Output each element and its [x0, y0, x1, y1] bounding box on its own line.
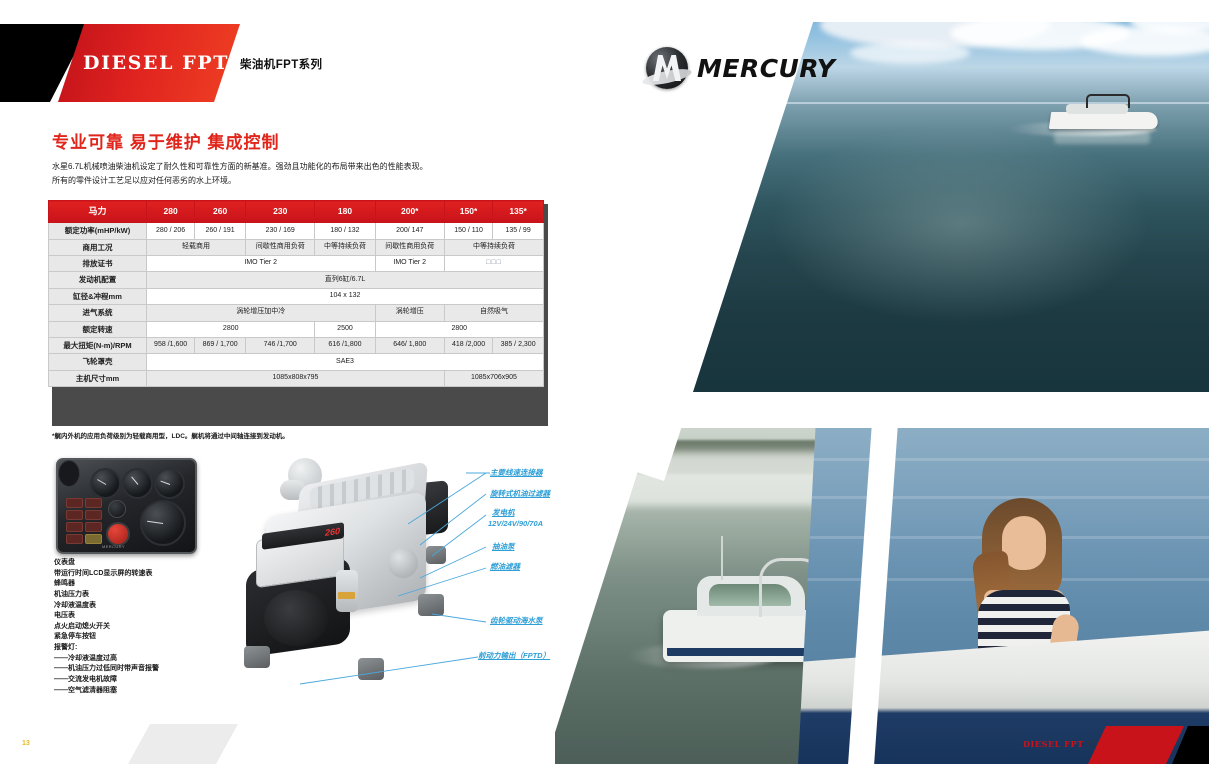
- engine-mount: [418, 594, 444, 616]
- warning-lamp: [85, 498, 102, 508]
- top-margin: [0, 0, 1209, 22]
- table-row-label: 飞轮罩壳: [49, 354, 147, 370]
- table-cell: 104 x 132: [147, 288, 544, 304]
- table-row-label: 缸径&冲程mm: [49, 288, 147, 304]
- table-cell: 中等持续负荷: [315, 239, 375, 255]
- table-cell: SAE3: [147, 354, 544, 370]
- photo-instrument-panel: MERCURY: [56, 458, 197, 554]
- table-body: 额定功率(mHP/kW)280 / 206260 / 191230 / 1691…: [49, 223, 544, 387]
- table-head: 马力280260230180200*150*135*: [49, 201, 544, 223]
- water-glare: [770, 124, 1150, 324]
- footer-brand: DIESEL FPT: [1023, 739, 1084, 749]
- boat-hull: [1049, 112, 1159, 129]
- engine-alternator: [388, 548, 418, 578]
- table-cell: 轻载商用: [147, 239, 246, 255]
- table-cell: 2500: [315, 321, 375, 337]
- warning-lamp-grid: [66, 498, 102, 544]
- footer-page-number-left: 13: [22, 740, 30, 747]
- table-header-model: 230: [245, 201, 314, 223]
- warning-lamp: [85, 522, 102, 532]
- boat-tower: [1086, 94, 1130, 108]
- mercury-logo: MERCURY: [646, 47, 835, 89]
- table-row: 主机尺寸mm1085x808x7951085x706x905: [49, 370, 544, 386]
- page-headline: 专业可靠 易于维护 集成控制: [52, 128, 279, 153]
- feature-list-item: ——空气滤清器阻塞: [54, 686, 159, 697]
- engine-mount: [426, 546, 446, 564]
- table-header-label: 马力: [49, 201, 147, 223]
- feature-list-item: 带运行时间LCD显示屏的转速表: [54, 569, 159, 580]
- water-ripple: [798, 458, 1209, 461]
- table-cell: 616 /1,800: [315, 337, 375, 353]
- warning-lamp: [66, 534, 83, 544]
- table-row-label: 排放证书: [49, 256, 147, 272]
- table-cell: 中等持续负荷: [444, 239, 543, 255]
- table-cell: 180 / 132: [315, 223, 375, 239]
- table-cell: 自然吸气: [444, 305, 543, 321]
- engine-fuel-filter: [336, 570, 358, 612]
- table-row-label: 额定转速: [49, 321, 147, 337]
- feature-list-item: 冷却液温度表: [54, 601, 159, 612]
- feature-list-item: 点火启动熄火开关: [54, 622, 159, 633]
- engine-mount: [244, 646, 270, 668]
- table-cell: 135 / 99: [493, 223, 544, 239]
- feature-list-item: ——交流发电机故障: [54, 675, 159, 686]
- table-header-model: 135*: [493, 201, 544, 223]
- table-row: 进气系统涡轮增压加中冷涡轮增压自然吸气: [49, 305, 544, 321]
- callout-label: 主要线速连接器: [490, 468, 543, 478]
- intro-line-2: 所有的零件设计工艺足以应对任何恶劣的水上环境。: [52, 174, 522, 188]
- feature-list-item: 紧急停车按钮: [54, 632, 159, 643]
- table-cell: IMO Tier 2: [147, 256, 376, 272]
- table-cell: 涡轮增压: [375, 305, 444, 321]
- callout-label: 发电机: [492, 508, 515, 518]
- callout-label: 旋转式机油过滤器: [490, 489, 550, 499]
- warning-lamp: [66, 522, 83, 532]
- table-cell: 1085x808x795: [147, 370, 445, 386]
- table-row: 缸径&冲程mm104 x 132: [49, 288, 544, 304]
- table-header-model: 280: [147, 201, 195, 223]
- feature-list-item: ——机油压力过低同时带声音报警: [54, 664, 159, 675]
- engine-illustration: 260: [236, 452, 486, 702]
- engine-mount: [358, 658, 384, 680]
- warning-lamp: [85, 534, 102, 544]
- callout-label: 12V/24V/90/70A: [488, 519, 543, 529]
- table-cell: 230 / 169: [245, 223, 314, 239]
- feature-list-item: ——冷却液温度过高: [54, 654, 159, 665]
- table-cell: 间歇性商用负荷: [375, 239, 444, 255]
- gauge-voltmeter: [154, 468, 185, 499]
- face: [1002, 516, 1046, 570]
- table-row: 发动机配置直列6缸/6.7L: [49, 272, 544, 288]
- table-row-label: 发动机配置: [49, 272, 147, 288]
- table-header-model: 200*: [375, 201, 444, 223]
- boat-reflection: [1054, 130, 1150, 144]
- table-row: 额定转速280025002800: [49, 321, 544, 337]
- table-cell: 958 /1,600: [147, 337, 195, 353]
- cloud-shape: [850, 42, 970, 64]
- feature-list: 仪表盘带运行时间LCD显示屏的转速表蜂鸣器机油压力表冷却液温度表电压表点火启动熄…: [54, 558, 159, 696]
- callout-label: 齿轮驱动海水泵: [490, 616, 543, 626]
- table-row-label: 进气系统: [49, 305, 147, 321]
- callout-label: 抽油泵: [492, 542, 515, 552]
- footer-right: DIESEL FPT / 14: [1023, 739, 1103, 749]
- table-header-row: 马力280260230180200*150*135*: [49, 201, 544, 223]
- panel-brand-label: MERCURY: [102, 544, 125, 549]
- gauge-coolant-temp: [122, 468, 153, 499]
- table-cell: 280 / 206: [147, 223, 195, 239]
- table-cell: 646/ 1,800: [375, 337, 444, 353]
- ignition-key-switch: [108, 500, 126, 518]
- table-cell: 385 / 2,300: [493, 337, 544, 353]
- table-cell: 200/ 147: [375, 223, 444, 239]
- table-cell: 2800: [375, 321, 543, 337]
- table-row-label: 主机尺寸mm: [49, 370, 147, 386]
- table-cell: 2800: [147, 321, 315, 337]
- table-row: 排放证书IMO Tier 2IMO Tier 2□□□: [49, 256, 544, 272]
- table-row: 最大扭矩(N-m)/RPM958 /1,600869 / 1,700746 /1…: [49, 337, 544, 353]
- gauge-needle: [96, 478, 105, 484]
- table-footnote: *艉内外机的应用负荷级别为轻载商用型，LDC。艉机将通过中间轴连接到发动机。: [52, 430, 289, 440]
- table-cell: 869 / 1,700: [195, 337, 246, 353]
- table-cell: 1085x706x905: [444, 370, 543, 386]
- table-cell: 直列6缸/6.7L: [147, 272, 544, 288]
- gauge-needle: [131, 476, 138, 484]
- table-row: 额定功率(mHP/kW)280 / 206260 / 191230 / 1691…: [49, 223, 544, 239]
- engine-bellhousing: [264, 590, 328, 646]
- warning-lamp: [66, 510, 83, 520]
- mercury-wordmark: MERCURY: [697, 54, 835, 83]
- table-cell: IMO Tier 2: [375, 256, 444, 272]
- intro-paragraph: 水星6.7L机械喷油柴油机设定了耐久性和可靠性方面的新基准。强劲且功能化的布局带…: [52, 160, 522, 187]
- warning-lamp: [85, 510, 102, 520]
- footer-gray-wedge: [128, 724, 238, 764]
- banner-title: DIESEL FPT: [76, 52, 236, 74]
- emergency-stop-button: [106, 522, 130, 546]
- feature-list-item: 蜂鸣器: [54, 579, 159, 590]
- table-header-model: 180: [315, 201, 375, 223]
- speedboat: [1050, 96, 1170, 140]
- callout-label: 前动力输出（FPTD）: [478, 651, 550, 661]
- banner-subtitle: 柴油机FPT系列: [240, 56, 322, 72]
- callout-label: 燃油滤器: [490, 562, 520, 572]
- table-row-label: 商用工况: [49, 239, 147, 255]
- table-cell: 418 /2,000: [444, 337, 492, 353]
- table-row-label: 额定功率(mHP/kW): [49, 223, 147, 239]
- table-header-model: 150*: [444, 201, 492, 223]
- feature-list-item: 报警灯:: [54, 643, 159, 654]
- antenna: [721, 536, 723, 580]
- gauge-tachometer: [140, 500, 186, 546]
- feature-list-item: 电压表: [54, 611, 159, 622]
- intro-line-1: 水星6.7L机械喷油柴油机设定了耐久性和可靠性方面的新基准。强劲且功能化的布局带…: [52, 160, 522, 174]
- specification-table: 马力280260230180200*150*135* 额定功率(mHP/kW)2…: [48, 200, 544, 387]
- warning-lamp: [66, 498, 83, 508]
- table-cell: 间歇性商用负荷: [245, 239, 314, 255]
- panel-bezel: [58, 460, 80, 487]
- photo-collage: [555, 0, 1209, 764]
- table-cell: 746 /1,700: [245, 337, 314, 353]
- table-header-model: 260: [195, 201, 246, 223]
- table-row: 商用工况轻载商用间歇性商用负荷中等持续负荷间歇性商用负荷中等持续负荷: [49, 239, 544, 255]
- gauge-needle: [147, 521, 163, 524]
- table-row-label: 最大扭矩(N-m)/RPM: [49, 337, 147, 353]
- mercury-emblem-icon: [646, 47, 688, 89]
- table-row: 飞轮罩壳SAE3: [49, 354, 544, 370]
- gauge-oil-pressure: [90, 468, 121, 499]
- table-cell: 涡轮增压加中冷: [147, 305, 376, 321]
- brochure-page: DIESEL FPT 柴油机FPT系列 MERCURY 专业可靠 易于维护 集成…: [0, 0, 1209, 764]
- feature-list-item: 机油压力表: [54, 590, 159, 601]
- table-cell: 260 / 191: [195, 223, 246, 239]
- table-cell: □□□: [444, 256, 543, 272]
- feature-list-item: 仪表盘: [54, 558, 159, 569]
- table-cell: 150 / 110: [444, 223, 492, 239]
- gauge-needle: [160, 480, 170, 484]
- footer-separator: /: [1087, 740, 1090, 749]
